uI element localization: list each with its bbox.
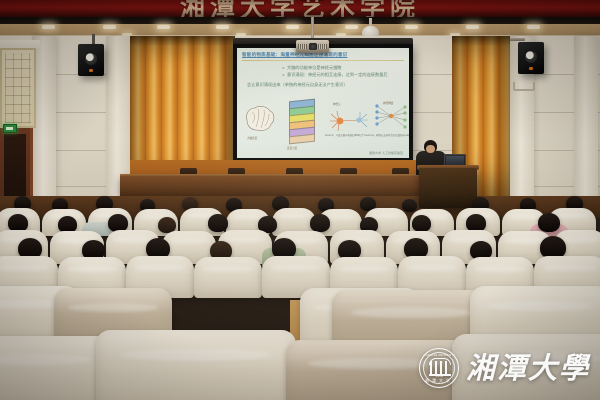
- neural-network-diagram-icon: [373, 102, 409, 132]
- slide-bullet-continuation: 会让意识涌现出来（单独的神经元自身无法产生意识）: [242, 82, 404, 88]
- emblem-pillars-icon: [430, 361, 450, 374]
- slide-figure-caption: Source：人类大脑中有超过860亿个neurons，神经元之间有百万亿级的s…: [325, 134, 409, 137]
- audience-head: [402, 199, 417, 212]
- ceiling-downlight: [405, 25, 418, 29]
- emblem-english-text: XIANGTAN UNIVERSITY: [420, 354, 458, 357]
- ceiling-downlight: [157, 25, 170, 29]
- wall-mount-hook: [513, 82, 535, 91]
- curtain-top-shadow: [130, 36, 235, 46]
- cortical-layer-stack-icon: [289, 100, 315, 144]
- speaker-led-icon: [89, 69, 93, 72]
- audience-chair: [194, 257, 262, 298]
- university-emblem-icon: XIANGTAN UNIVERSITY 1958 湘潭大学: [419, 348, 459, 388]
- ceiling-downlight: [103, 25, 116, 29]
- curtain-top-shadow: [452, 36, 510, 46]
- hall-banner: 湘潭大学艺术学院: [0, 0, 600, 17]
- emblem-chinese-text: 湘潭大学: [420, 378, 458, 384]
- lecture-hall-photo: 湘潭大学艺术学院: [0, 0, 600, 400]
- slide-figures: 大脑皮层 皮层分层: [237, 100, 409, 158]
- network-figure-label: 神经网络: [383, 101, 393, 105]
- speaker-podium: 湘潭大学 XIANGTAN UNIVERSITY: [419, 168, 477, 208]
- stage-desk: [120, 176, 440, 198]
- right-wall-speaker: [518, 42, 544, 74]
- slide-bullet: 意识涌现：神经元的相互连接，达到一定的连接数量后: [282, 72, 404, 78]
- audience-chair: [96, 330, 296, 400]
- speaker-bracket: [92, 34, 95, 44]
- brain-diagram-icon: [243, 104, 277, 134]
- stack-figure-label: 皮层分层: [287, 146, 297, 150]
- slide-bullet-list: 大脑的功能单位是神经元细胞 意识涌现：神经元的相互连接，达到一定的连接数量后: [242, 65, 404, 78]
- ceiling-downlight: [466, 25, 479, 29]
- audience-head: [208, 214, 228, 232]
- projector-vent: [318, 44, 327, 49]
- banner-shading: [0, 0, 600, 17]
- neuron-figure-label: 神经元: [333, 102, 341, 106]
- university-name-watermark: 湘潭大學: [466, 352, 590, 384]
- slide-title: 智能的物质基础：海量神经元细胞连接涌现的意识: [242, 52, 404, 59]
- ceiling-downlight: [345, 25, 358, 29]
- audience-head: [310, 214, 330, 232]
- ceiling-downlight: [527, 25, 540, 29]
- speaker-cone-icon: [85, 53, 97, 65]
- slide-bullet: 大脑的功能单位是神经元细胞: [282, 65, 404, 71]
- speaker-cone-icon: [525, 51, 537, 63]
- ceiling-downlight: [216, 25, 229, 29]
- projector-vent: [298, 44, 307, 49]
- wall-pillar: [574, 36, 598, 208]
- presentation-slide: 智能的物质基础：海量神经元细胞连接涌现的意识 大脑的功能单位是神经元细胞 意识涌…: [237, 48, 409, 158]
- ceiling-projector: [296, 40, 329, 53]
- calligraphy-grid: [5, 53, 31, 123]
- brain-figure-label: 大脑皮层: [247, 136, 257, 140]
- projection-screen: 智能的物质基础：海量神经元细胞连接涌现的意识 大脑的功能单位是神经元细胞 意识涌…: [233, 44, 413, 162]
- audience-head: [412, 215, 431, 232]
- left-wall-speaker: [78, 44, 104, 76]
- university-watermark: XIANGTAN UNIVERSITY 1958 湘潭大学 湘潭大學: [419, 348, 590, 388]
- neuron-diagram-icon: [329, 108, 369, 134]
- speaker-led-icon: [529, 67, 533, 70]
- projector-lens-icon: [309, 43, 317, 50]
- presenter-face: [426, 145, 435, 153]
- ceiling-downlight: [42, 25, 55, 29]
- exit-sign: [3, 124, 17, 133]
- slide-title-underline: [242, 60, 404, 61]
- ceiling-downlight: [286, 25, 299, 29]
- audience-chair: [0, 336, 110, 400]
- projection-screen-surface: 智能的物质基础：海量神经元细胞连接涌现的意识 大脑的功能单位是神经元细胞 意识涌…: [237, 48, 409, 158]
- audience-head: [538, 213, 560, 232]
- calligraphy-wall-panel: [0, 48, 36, 128]
- slide-footer: 湘潭大学 人工智能实验室: [369, 151, 403, 155]
